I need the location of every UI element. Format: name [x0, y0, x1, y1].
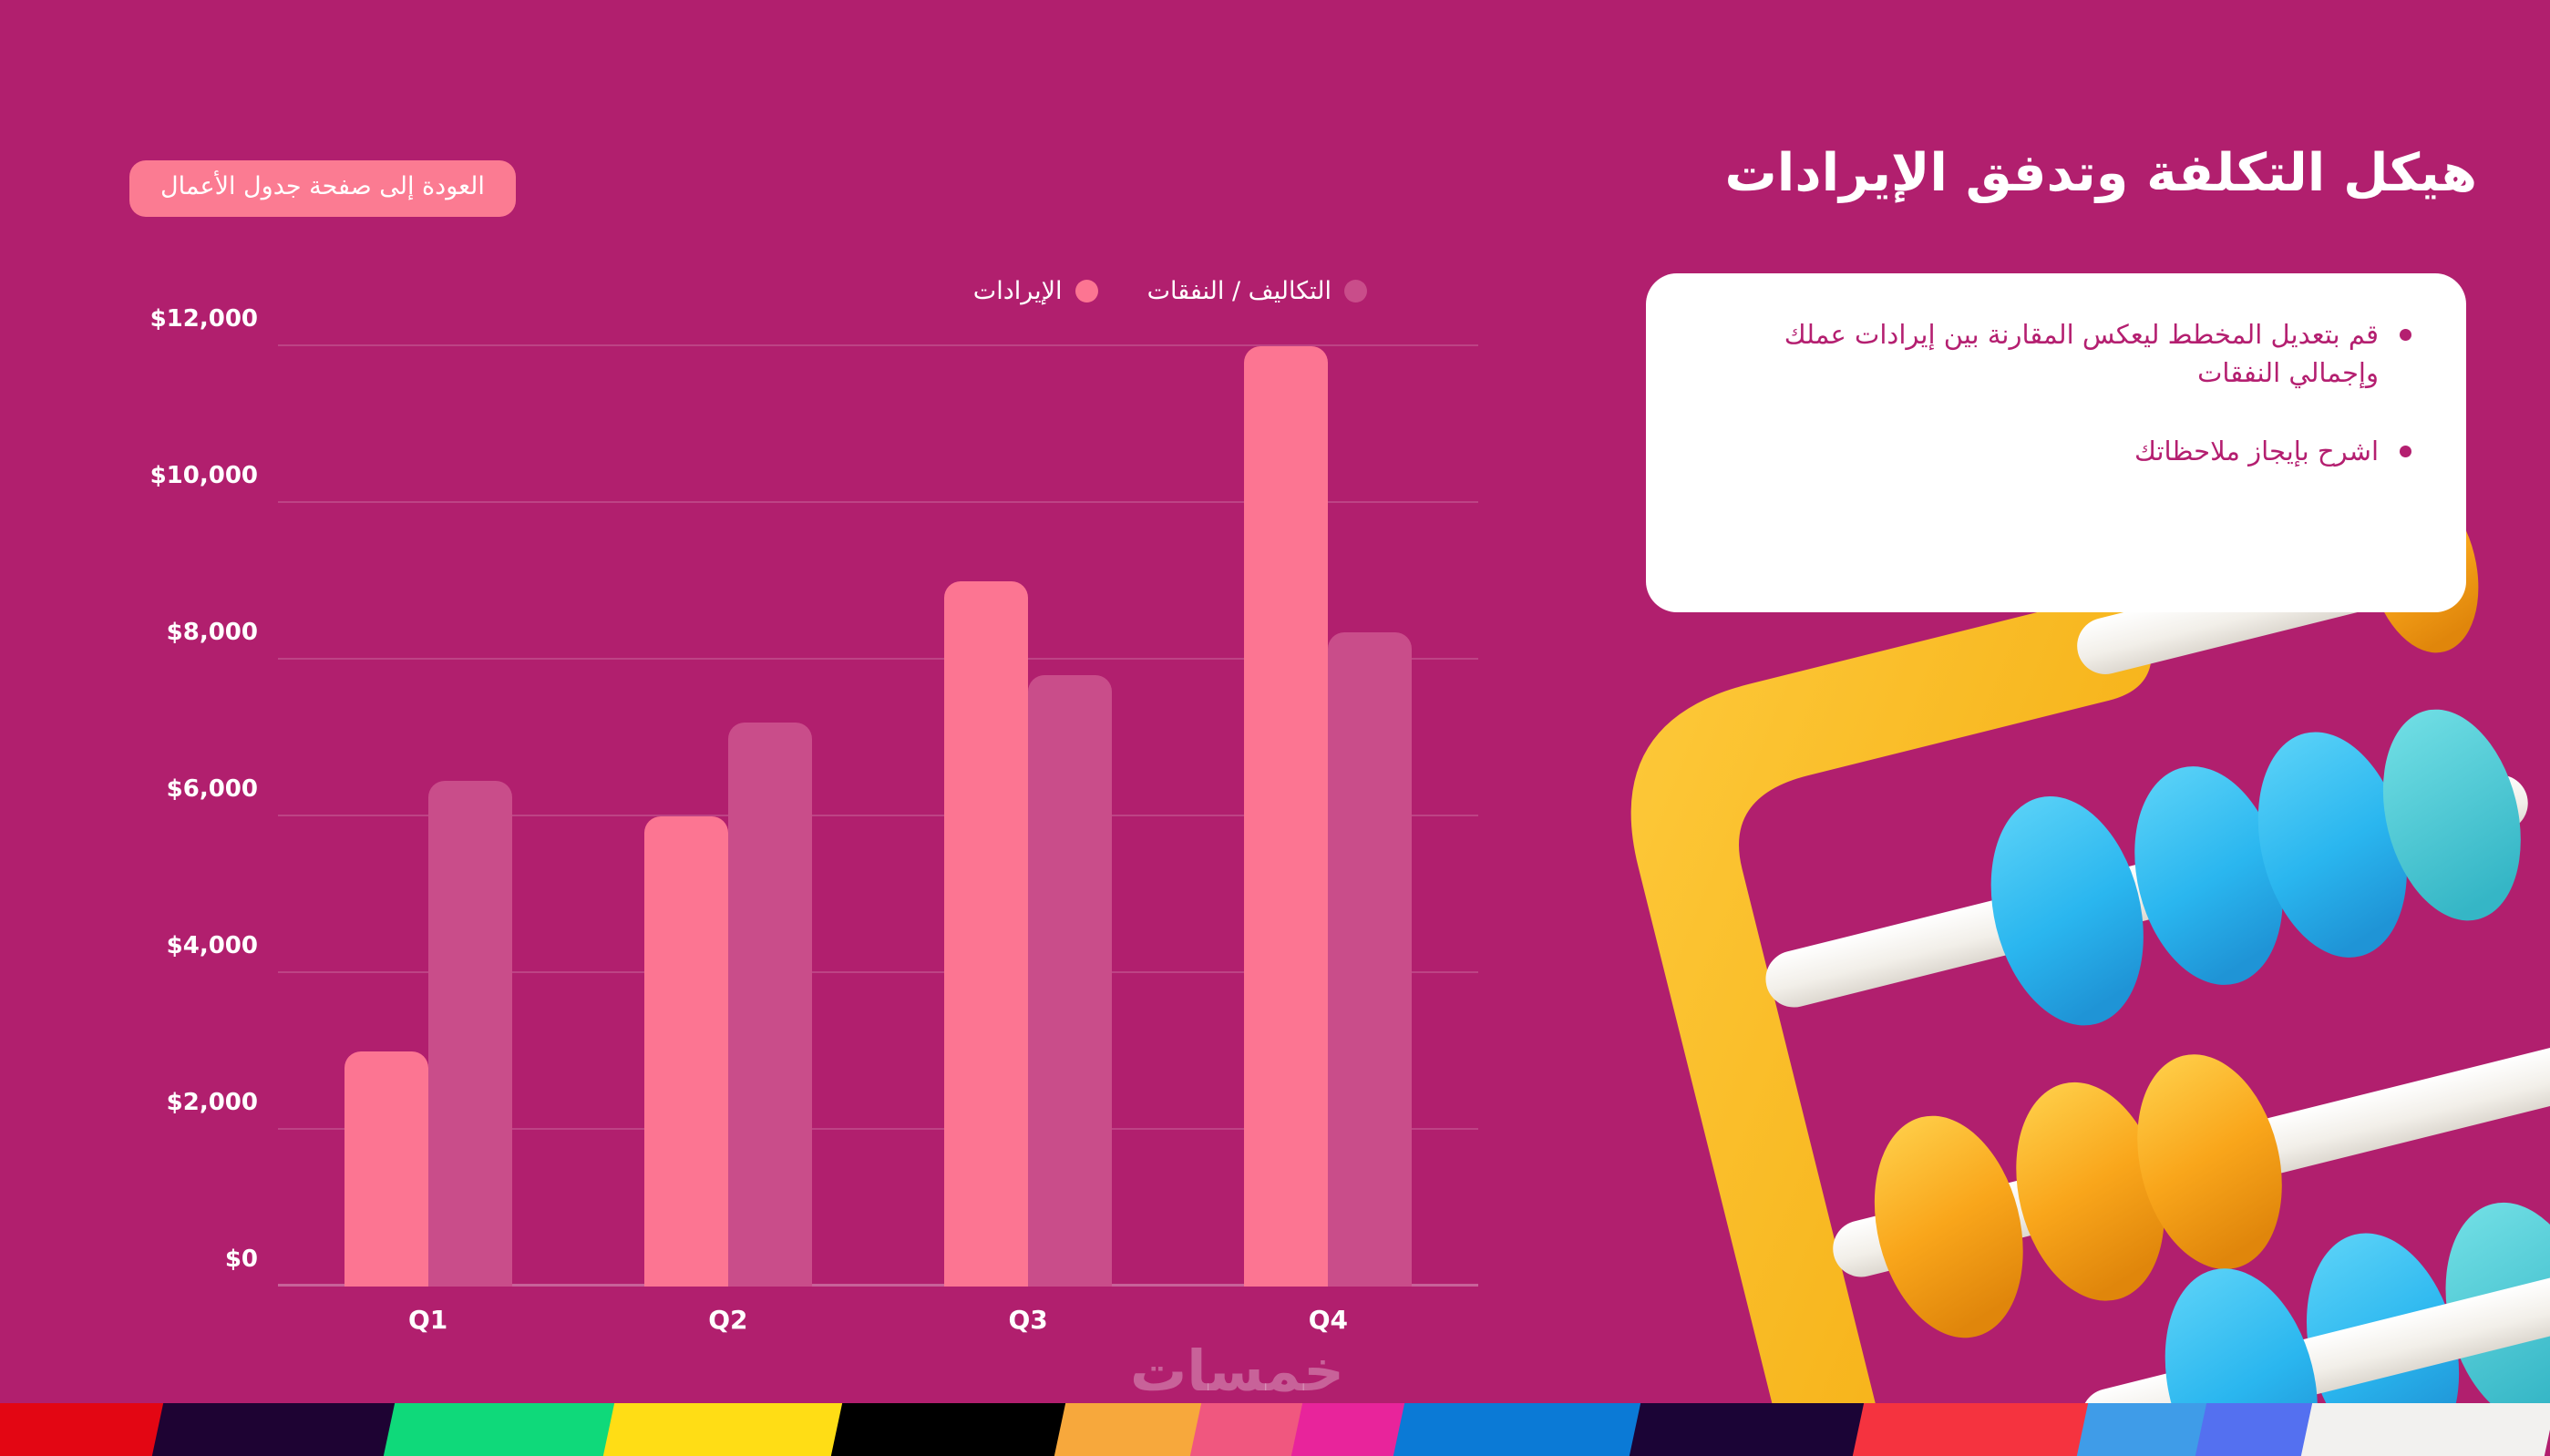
color-strip-segment — [1054, 1403, 1208, 1456]
color-strip-segment — [2301, 1403, 2550, 1456]
abacus-svg — [1584, 492, 2550, 1403]
note-text: اشرح بإيجاز ملاحظاتك — [2134, 436, 2379, 467]
y-axis-tick-label: $8,000 — [167, 619, 258, 646]
abacus-bead — [2362, 695, 2542, 936]
bar-revenue[interactable] — [944, 581, 1028, 1287]
back-to-agenda-button[interactable]: العودة إلى صفحة جدول الأعمال — [129, 160, 516, 217]
revenue-cost-bar-chart: التكاليف / النفقات الإيرادات $0$2,000$4,… — [0, 255, 1549, 1348]
color-strip-segment — [0, 1403, 170, 1456]
y-axis-tick-label: $0 — [225, 1246, 258, 1273]
legend-swatch-revenue — [1075, 280, 1098, 302]
list-item: اشرح بإيجاز ملاحظاتك — [1697, 432, 2415, 470]
bar-group — [879, 346, 1178, 1287]
abacus-bead — [1853, 1100, 2045, 1353]
color-strip-segment — [831, 1403, 1074, 1456]
y-axis-tick-label: $10,000 — [150, 462, 258, 489]
bar-costs[interactable] — [1028, 675, 1112, 1287]
abacus-bead — [1969, 780, 2166, 1041]
x-axis-label: Q4 — [1178, 1305, 1478, 1335]
abacus-bead — [2423, 1187, 2550, 1403]
abacus-illustration — [1584, 492, 2550, 1403]
bar-revenue[interactable] — [1244, 346, 1328, 1287]
slide-title: هيكل التكلفة وتدفق الإيرادات — [1265, 144, 2477, 204]
x-axis-label: Q3 — [879, 1305, 1178, 1335]
bottom-color-strip — [0, 1403, 2550, 1456]
x-axis-labels: Q1Q2Q3Q4 — [278, 1305, 1478, 1335]
bar-revenue[interactable] — [344, 1051, 428, 1287]
y-axis-tick-label: $12,000 — [150, 305, 258, 333]
legend-item-costs[interactable]: التكاليف / النفقات — [1147, 277, 1367, 305]
legend-label-revenue: الإيرادات — [973, 277, 1063, 305]
bar-costs[interactable] — [1328, 632, 1412, 1287]
watermark: خمسات — [1130, 1338, 1344, 1404]
bar-group — [578, 346, 878, 1287]
color-strip-segment — [2076, 1403, 2213, 1456]
color-strip-segment — [1393, 1403, 1648, 1456]
abacus-bead — [1994, 1067, 2185, 1317]
bar-revenue[interactable] — [644, 816, 728, 1287]
legend-label-costs: التكاليف / النفقات — [1147, 277, 1332, 305]
abacus-bead — [2143, 1252, 2340, 1403]
abacus-rod — [1827, 1039, 2550, 1283]
abacus-frame — [1602, 588, 2323, 1403]
x-axis-label: Q1 — [278, 1305, 578, 1335]
y-axis-tick-label: $6,000 — [167, 775, 258, 803]
y-axis-tick-label: $2,000 — [167, 1089, 258, 1116]
chart-legend: التكاليف / النفقات الإيرادات — [973, 277, 1367, 305]
notes-list: قم بتعديل المخطط ليعكس المقارنة بين إيرا… — [1697, 315, 2415, 470]
x-axis-label: Q2 — [578, 1305, 878, 1335]
abacus-rod — [1760, 769, 2534, 1013]
legend-swatch-costs — [1344, 280, 1367, 302]
bar-group — [278, 346, 578, 1287]
abacus-rod — [2075, 1256, 2550, 1403]
abacus-bead — [2284, 1217, 2482, 1403]
note-text: قم بتعديل المخطط ليعكس المقارنة بين إيرا… — [1784, 319, 2379, 388]
bar-group — [1178, 346, 1478, 1287]
bar-costs[interactable] — [428, 781, 512, 1287]
bar-groups — [278, 346, 1478, 1287]
bar-costs[interactable] — [728, 723, 812, 1287]
color-strip-segment — [2195, 1403, 2319, 1456]
bullet-dot-icon — [2400, 329, 2411, 341]
color-strip-segment — [1853, 1403, 2095, 1456]
plot-area: $0$2,000$4,000$6,000$8,000$10,000$12,000 — [278, 346, 1478, 1287]
speaker-notes-card: قم بتعديل المخطط ليعكس المقارنة بين إيرا… — [1646, 273, 2466, 612]
color-strip-segment — [152, 1403, 403, 1456]
color-strip-segment — [384, 1403, 622, 1456]
abacus-bead — [2113, 751, 2304, 1000]
list-item: قم بتعديل المخطط ليعكس المقارنة بين إيرا… — [1697, 315, 2415, 392]
bullet-dot-icon — [2400, 446, 2411, 457]
legend-item-revenue[interactable]: الإيرادات — [973, 277, 1098, 305]
color-strip-segment — [603, 1403, 849, 1456]
y-axis-tick-label: $4,000 — [167, 932, 258, 959]
color-strip-segment — [1630, 1403, 1872, 1456]
abacus-bead — [2116, 1039, 2304, 1285]
abacus-bead — [2236, 716, 2429, 973]
color-strip-segment — [1291, 1403, 1412, 1456]
